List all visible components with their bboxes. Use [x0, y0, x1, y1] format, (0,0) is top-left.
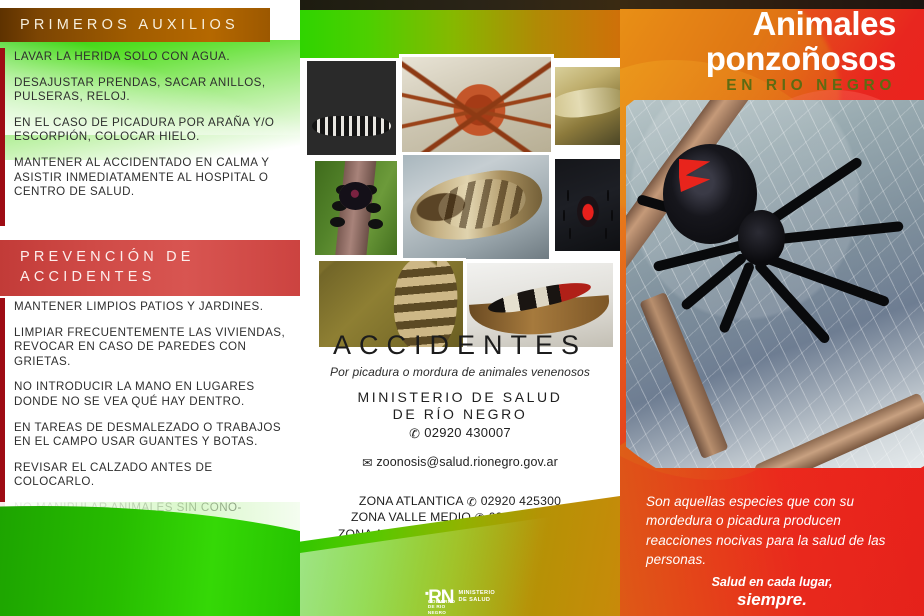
tagline-line-2: siempre.: [620, 591, 924, 608]
rn-logo-side-text: MINISTERIO DE SALUD: [459, 590, 496, 603]
accidentes-subtitle: Por picadura o mordura de animales venen…: [300, 365, 620, 379]
description-text: Son aquellas especies que con su mordedu…: [646, 492, 896, 570]
zone-phone: 02920 425300: [481, 494, 561, 508]
rn-logo-subtext: GOBIERNO DE RIO NEGRO: [428, 599, 455, 615]
bottom-green-swoosh-decoration: [0, 506, 300, 616]
title-subtitle: EN RIO NEGRO: [620, 77, 896, 95]
viper-head-photo: [400, 152, 552, 262]
zone-name: ZONA ATLANTICA: [359, 494, 463, 508]
prevention-item: REVISAR EL CALZADO ANTES DE COLOCARLO.: [14, 461, 286, 490]
first-aid-heading-bar: PRIMEROS AUXILIOS: [0, 8, 270, 42]
prevention-heading-line2: ACCIDENTES: [20, 267, 300, 287]
ministry-line-2: DE RÍO NEGRO: [300, 406, 620, 423]
black-widow-red-belly-photo: [552, 156, 620, 254]
prevention-item: NO INTRODUCIR LA MANO EN LUGARES DONDE N…: [14, 380, 286, 409]
title-line-2: ponzoñosos: [620, 41, 896, 76]
first-aid-item: EN EL CASO DE PICADURA POR ARAÑA Y/O ESC…: [14, 116, 286, 145]
main-phone-row: ✆ 02920 430007: [300, 425, 620, 442]
phone-icon: ✆: [409, 426, 420, 442]
first-aid-item: MANTENER AL ACCIDENTADO EN CALMA Y ASIST…: [14, 156, 286, 200]
center-panel: ACCIDENTES Por picadura o mordura de ani…: [300, 0, 620, 616]
tagline: Salud en cada lugar, siempre.: [620, 574, 924, 608]
rn-ministry-logo: ▪RN GOBIERNO DE RIO NEGRO MINISTERIO DE …: [425, 585, 495, 608]
title-line-1: Animales: [620, 6, 896, 41]
caterpillar-photo: [304, 58, 399, 158]
right-panel: Animales ponzoñosos EN RIO NEGRO Son aqu…: [620, 0, 924, 616]
first-aid-list: LAVAR LA HERIDA SOLO CON AGUA. DESAJUSTA…: [14, 50, 286, 211]
ministry-line-1: MINISTERIO DE SALUD: [300, 389, 620, 406]
prevention-heading-bar: PREVENCIÓN DE ACCIDENTES: [0, 240, 300, 296]
center-top-gradient-band: [300, 0, 620, 58]
left-panel: PRIMEROS AUXILIOS LAVAR LA HERIDA SOLO C…: [0, 0, 300, 616]
accidentes-title: ACCIDENTES: [300, 330, 620, 361]
phone-icon: ✆: [467, 495, 477, 510]
page-title: Animales ponzoñosos EN RIO NEGRO: [620, 6, 910, 95]
first-aid-item: DESAJUSTAR PRENDAS, SACAR ANILLOS, PULSE…: [14, 76, 286, 105]
red-accent-bar-prevention: [0, 298, 5, 536]
photo-mosaic: [304, 58, 620, 308]
prevention-item: MANTENER LIMPIOS PATIOS Y JARDINES.: [14, 300, 286, 315]
black-widow-on-tree-photo: [312, 158, 400, 258]
brown-recluse-spider-photo: [399, 54, 554, 162]
tagline-line-1: Salud en cada lugar,: [620, 574, 924, 591]
poster-root: PRIMEROS AUXILIOS LAVAR LA HERIDA SOLO C…: [0, 0, 924, 616]
first-aid-item: LAVAR LA HERIDA SOLO CON AGUA.: [14, 50, 286, 65]
black-widow-spider-on-web-photo: [626, 100, 924, 468]
first-aid-heading-text: PRIMEROS AUXILIOS: [0, 17, 239, 33]
main-phone-number: 02920 430007: [424, 425, 511, 440]
prevention-item: LIMPIAR FRECUENTEMENTE LAS VIVIENDAS, RE…: [14, 326, 286, 370]
yellow-snake-head-photo: [552, 64, 620, 148]
email-address[interactable]: zoonosis@salud.rionegro.gov.ar: [376, 455, 558, 469]
spider-cephalothorax: [738, 210, 785, 265]
red-accent-bar-first-aid: [0, 48, 5, 226]
prevention-item: EN TAREAS DE DESMALEZADO O TRABAJOS EN E…: [14, 421, 286, 450]
prevention-heading-line1: PREVENCIÓN DE: [20, 247, 300, 267]
email-row[interactable]: ✉ zoonosis@salud.rionegro.gov.ar: [300, 455, 620, 470]
envelope-icon: ✉: [362, 455, 373, 470]
